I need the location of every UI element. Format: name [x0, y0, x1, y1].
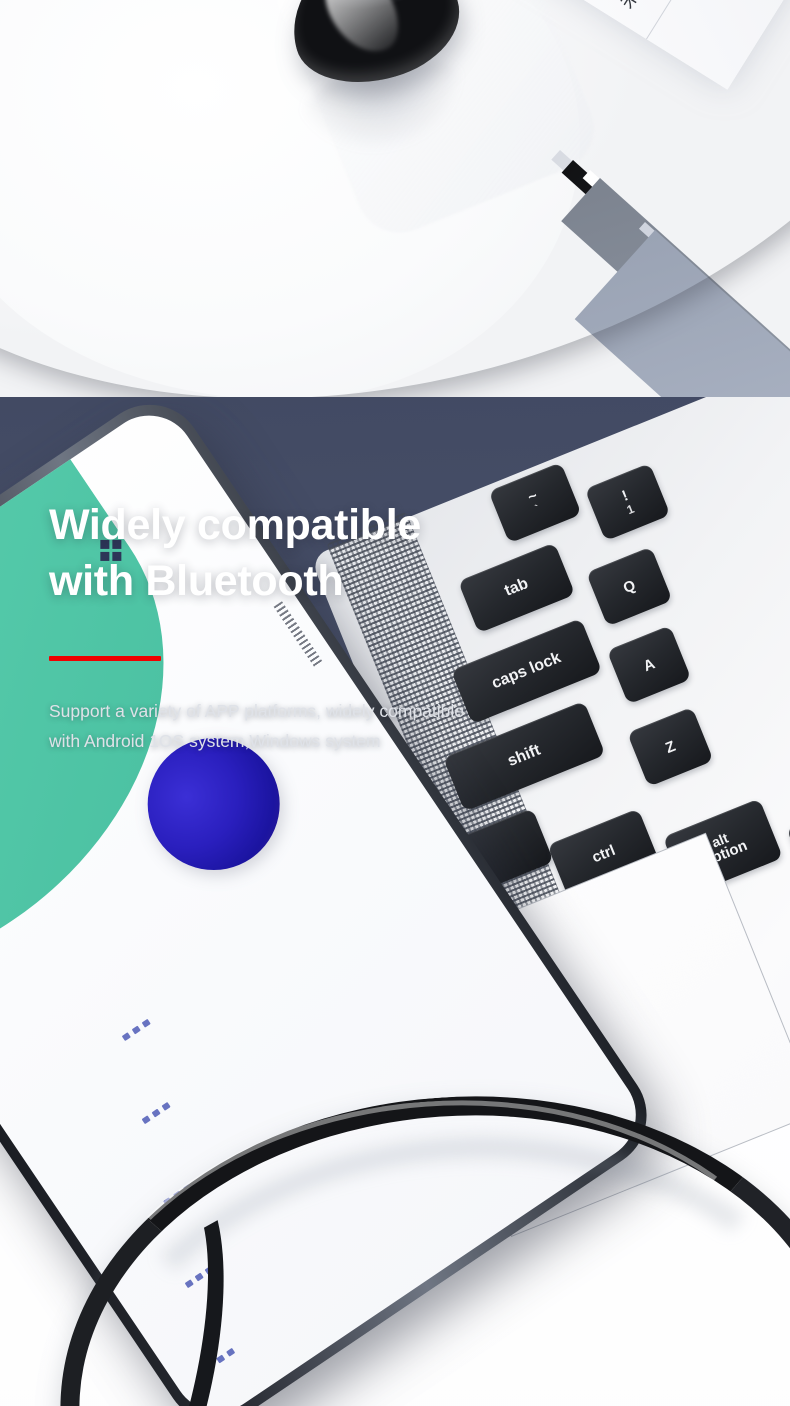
top-product-photo: le 配对， 请前往 Apple Watch a 未连	[0, 0, 790, 398]
list-item[interactable]	[138, 1088, 179, 1119]
subtitle: Support a variety of APP platforms, wide…	[49, 697, 609, 757]
headline-line-2: with Bluetooth	[49, 554, 609, 610]
subcopy-line-2: with Android 1OS system,Windows system	[49, 727, 609, 757]
page-title: Widely compatible with Bluetooth	[49, 498, 609, 610]
subcopy-line-1: Support a variety of APP platforms, wide…	[49, 697, 609, 727]
marketing-copy: Widely compatible with Bluetooth Support…	[49, 498, 609, 756]
headline-line-1: Widely compatible	[49, 498, 609, 554]
list-item[interactable]	[118, 1005, 159, 1036]
accent-divider	[49, 656, 161, 661]
key-sublabel: 1	[625, 502, 636, 516]
product-banner: le 配对， 请前往 Apple Watch a 未连 ~ `	[0, 0, 790, 1406]
